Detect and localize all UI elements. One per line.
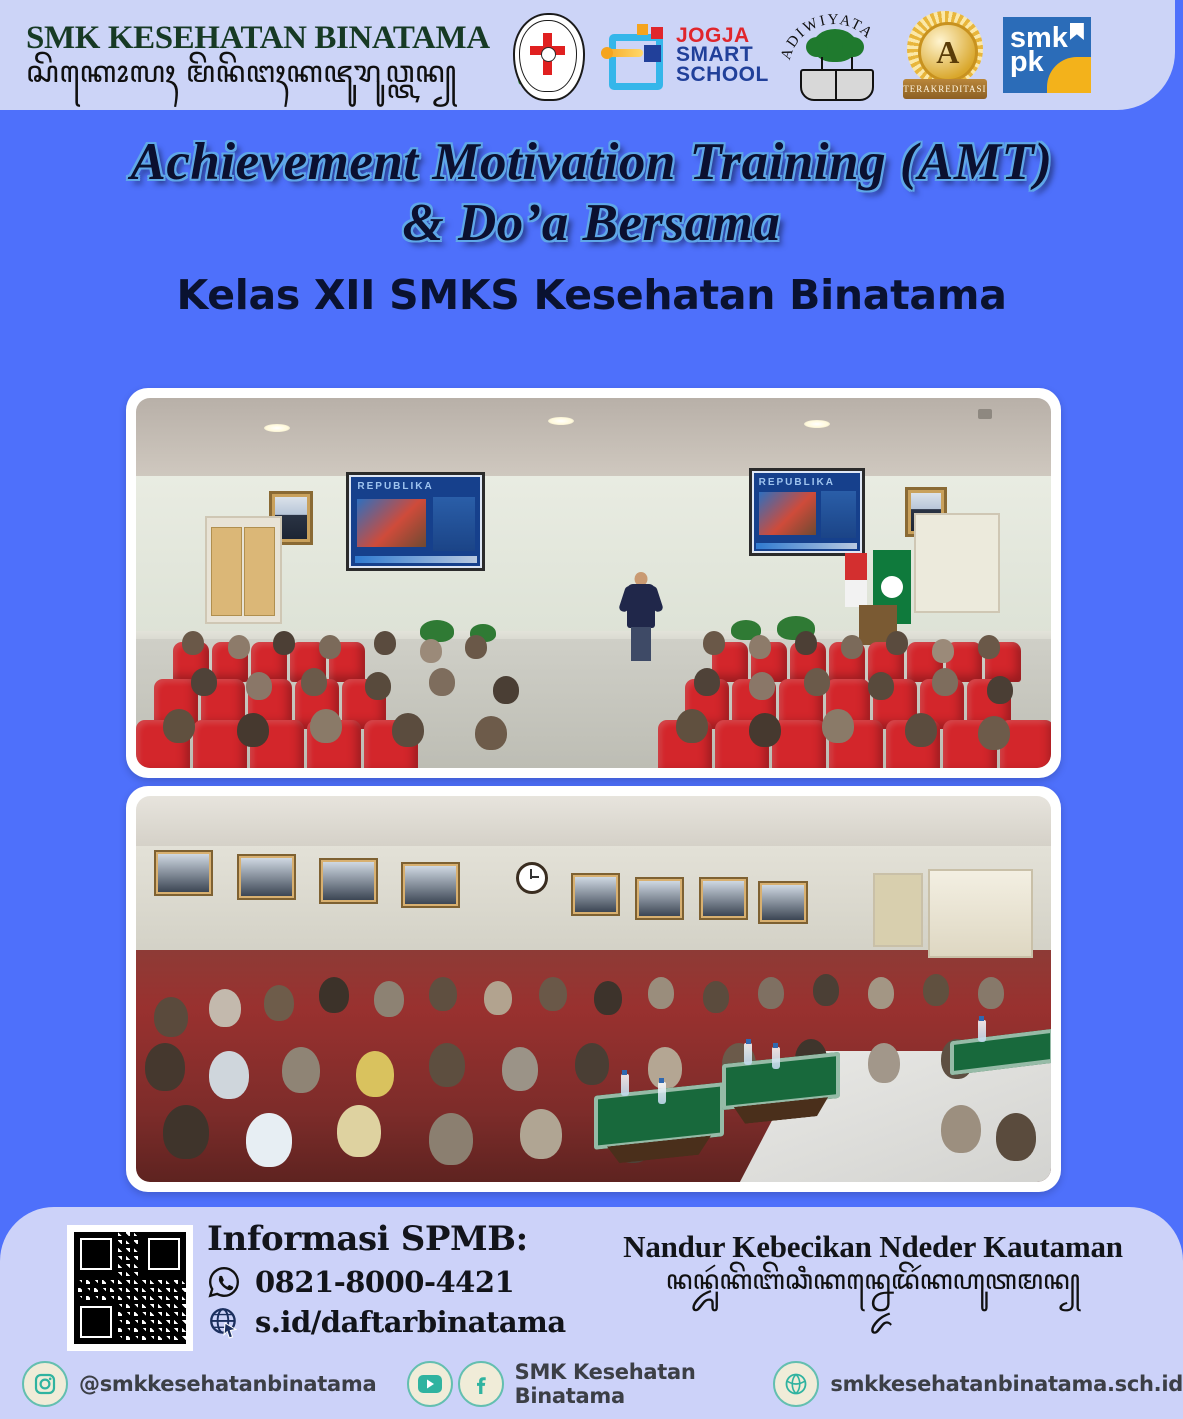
spmb-title: Informasi SPMB: bbox=[207, 1219, 566, 1259]
footer-panel: Informasi SPMB: 0821-8000-4421 bbox=[0, 1207, 1183, 1419]
akreditasi-grade: A bbox=[936, 34, 959, 71]
event-title-line1: Achievement Motivation Training (AMT) bbox=[0, 132, 1183, 193]
header-bar: SMK KESEHATAN BINATAMA ꦱꦼꦏꦺꦴꦭꦃ ꦩꦼꦤꦼꦔꦃꦏꦗꦸ… bbox=[0, 0, 1175, 110]
social-instagram[interactable]: @smkkesehatanbinatama bbox=[22, 1361, 376, 1407]
website-short-text: s.id/daftarbinatama bbox=[255, 1305, 566, 1339]
social-website[interactable]: smkkesehatanbinatama.sch.id bbox=[773, 1361, 1183, 1407]
youtube-icon bbox=[407, 1361, 453, 1407]
akreditasi-a-icon: A TERAKREDITASI bbox=[899, 9, 991, 101]
screen-text-right: REPUBLIKA bbox=[759, 477, 836, 488]
header-logo-strip: JOGJA SMART SCHOOL ADIWIYATA A bbox=[505, 9, 1175, 101]
event-subtitle: Kelas XII SMKS Kesehatan Binatama bbox=[0, 271, 1183, 319]
social-media-bar: @smkkesehatanbinatama SMK Kesehatan Bina… bbox=[0, 1349, 1183, 1419]
adiwiyata-icon: ADIWIYATA bbox=[781, 11, 887, 99]
spmb-info-block: Informasi SPMB: 0821-8000-4421 bbox=[207, 1219, 566, 1339]
jss-line2: SMART bbox=[676, 45, 769, 64]
smkpk-line2: pk bbox=[1010, 50, 1068, 74]
website-icon bbox=[773, 1361, 819, 1407]
school-seal-icon bbox=[505, 11, 589, 99]
facebook-icon bbox=[458, 1361, 504, 1407]
globe-cursor-icon bbox=[207, 1305, 241, 1339]
title-block: Achievement Motivation Training (AMT) & … bbox=[0, 132, 1183, 319]
instagram-handle: @smkkesehatanbinatama bbox=[79, 1372, 376, 1396]
instagram-icon bbox=[22, 1361, 68, 1407]
footer-info-row: Informasi SPMB: 0821-8000-4421 bbox=[0, 1207, 1183, 1347]
event-title: Achievement Motivation Training (AMT) & … bbox=[0, 132, 1183, 255]
qr-code-registration[interactable] bbox=[67, 1225, 193, 1351]
motto-javanese: ꦤꦤ꧀ꦢꦸꦂꦏꦼꦧꦼꦕꦶꦏꦤ꧀ꦤ꧀ꦢꦺꦢꦼꦂꦏꦲꦸꦠꦩꦤ꧀ bbox=[593, 1267, 1153, 1294]
school-motto: Nandur Kebecikan Ndeder Kautaman ꦤꦤ꧀ꦢꦸꦂꦏ… bbox=[593, 1229, 1153, 1294]
photo-audience-seated bbox=[126, 786, 1061, 1192]
photo-auditorium-speaker: REPUBLIKA REPUBLIKA bbox=[126, 388, 1061, 778]
speaker-person bbox=[626, 572, 656, 664]
website-handle: smkkesehatanbinatama.sch.id bbox=[830, 1372, 1183, 1396]
website-short-link[interactable]: s.id/daftarbinatama bbox=[207, 1305, 566, 1339]
jss-line3: SCHOOL bbox=[676, 65, 769, 84]
whatsapp-icon bbox=[207, 1265, 241, 1299]
photo-audience-seated-image bbox=[136, 796, 1051, 1182]
jogja-smart-school-icon: JOGJA SMART SCHOOL bbox=[601, 22, 769, 88]
school-name-javanese: ꦱꦼꦏꦺꦴꦭꦃ ꦩꦼꦤꦼꦔꦃꦏꦗꦸꦫꦸꦮ꧀ꦠꦤ꧀ bbox=[26, 58, 505, 88]
projector-screen-left: REPUBLIKA bbox=[346, 472, 485, 571]
whatsapp-number: 0821-8000-4421 bbox=[255, 1265, 514, 1299]
projector-screen-right: REPUBLIKA bbox=[749, 468, 865, 555]
photo-auditorium-speaker-image: REPUBLIKA REPUBLIKA bbox=[136, 398, 1051, 768]
school-name: SMK KESEHATAN BINATAMA bbox=[26, 22, 505, 56]
event-title-line2: & Do’a Bersama bbox=[0, 193, 1183, 254]
header-school-identity: SMK KESEHATAN BINATAMA ꦱꦼꦏꦺꦴꦭꦃ ꦩꦼꦤꦼꦔꦃꦏꦗꦸ… bbox=[0, 22, 505, 88]
akreditasi-label: TERAKREDITASI bbox=[903, 84, 986, 94]
youtube-facebook-handle: SMK Kesehatan Binatama bbox=[515, 1360, 749, 1408]
motto-indonesian: Nandur Kebecikan Ndeder Kautaman bbox=[593, 1229, 1153, 1265]
social-youtube-facebook[interactable]: SMK Kesehatan Binatama bbox=[407, 1360, 749, 1408]
smk-pk-icon: smk pk bbox=[1003, 17, 1091, 93]
whatsapp-contact[interactable]: 0821-8000-4421 bbox=[207, 1265, 566, 1299]
poster-root: SMK KESEHATAN BINATAMA ꦱꦼꦏꦺꦴꦭꦃ ꦩꦼꦤꦼꦔꦃꦏꦗꦸ… bbox=[0, 0, 1183, 1419]
screen-text-left: REPUBLIKA bbox=[357, 481, 450, 493]
